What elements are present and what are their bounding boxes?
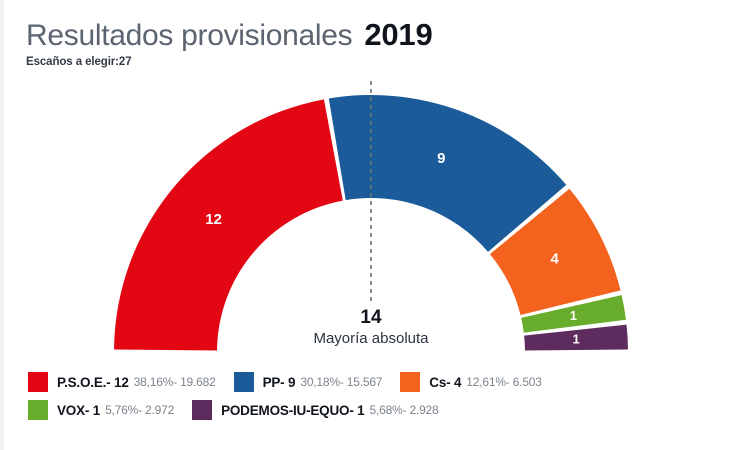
legend-item[interactable]: VOX- 15,76%- 2.972 (28, 400, 174, 420)
absolute-majority-value: 14 (271, 307, 471, 329)
legend-color-swatch (28, 400, 48, 420)
chart-page: Resultados provisionales 2019 Escaños a … (0, 0, 730, 450)
legend-party-stat: 5,68%- 2.928 (370, 403, 439, 417)
legend-party-label: P.S.O.E.- 12 (57, 375, 129, 390)
legend-row: VOX- 15,76%- 2.972PODEMOS-IU-EQUO- 15,68… (28, 396, 718, 424)
legend-party-label: PODEMOS-IU-EQUO- 1 (221, 403, 364, 418)
legend-party-label: Cs- 4 (429, 375, 461, 390)
legend-party-label: PP- 9 (263, 375, 296, 390)
legend-party-label: VOX- 1 (57, 403, 100, 418)
legend-party-stat: 5,76%- 2.972 (105, 403, 174, 417)
absolute-majority-note: 14 Mayoría absoluta (271, 307, 471, 348)
legend-party-stat: 12,61%- 6.503 (466, 375, 541, 389)
legend-color-swatch (234, 372, 254, 392)
segment-value-label: 1 (573, 331, 580, 346)
legend-item[interactable]: PODEMOS-IU-EQUO- 15,68%- 2.928 (192, 400, 438, 420)
legend-color-swatch (192, 400, 212, 420)
legend-item[interactable]: P.S.O.E.- 1238,16%- 19.682 (28, 372, 216, 392)
legend-color-swatch (28, 372, 48, 392)
segment-value-label: 12 (205, 211, 222, 228)
legend-row: P.S.O.E.- 1238,16%- 19.682PP- 930,18%- 1… (28, 368, 718, 396)
legend-item[interactable]: Cs- 412,61%- 6.503 (400, 372, 541, 392)
segment-value-label: 1 (570, 308, 577, 323)
chart-legend: P.S.O.E.- 1238,16%- 19.682PP- 930,18%- 1… (28, 368, 718, 424)
legend-party-stat: 38,16%- 19.682 (134, 375, 216, 389)
segment-value-label: 4 (550, 251, 559, 268)
segment-value-label: 9 (437, 150, 445, 167)
legend-item[interactable]: PP- 930,18%- 15.567 (234, 372, 383, 392)
legend-color-swatch (400, 372, 420, 392)
legend-party-stat: 30,18%- 15.567 (300, 375, 382, 389)
absolute-majority-caption: Mayoría absoluta (271, 330, 471, 348)
